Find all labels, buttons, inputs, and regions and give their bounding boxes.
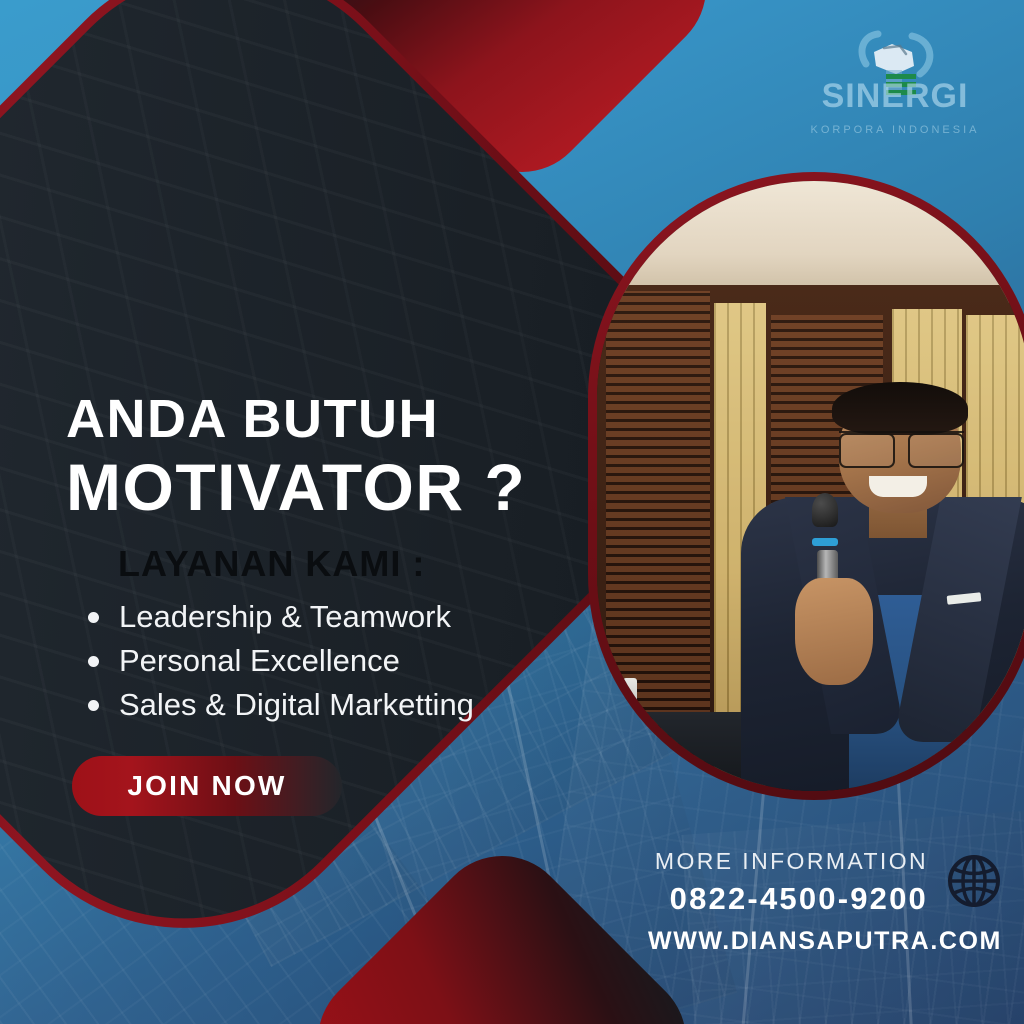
headline-content: ANDA BUTUH MOTIVATOR ? LAYANAN KAMI : Le… bbox=[66, 392, 586, 816]
list-item: Sales & Digital Marketting bbox=[88, 685, 586, 726]
contact-text: MORE INFORMATION 0822-4500-9200 bbox=[655, 848, 928, 917]
service-label: Leadership & Teamwork bbox=[119, 597, 451, 638]
service-label: Personal Excellence bbox=[119, 641, 400, 682]
phone-number[interactable]: 0822-4500-9200 bbox=[655, 881, 928, 917]
smile bbox=[869, 476, 927, 496]
bullet-icon bbox=[88, 700, 99, 711]
promo-poster: ANDA BUTUH MOTIVATOR ? LAYANAN KAMI : Le… bbox=[0, 0, 1024, 1024]
contact-block: MORE INFORMATION 0822-4500-9200 WWW.DIAN… bbox=[648, 848, 1002, 956]
logo-tagline: KORPORA INDONESIA bbox=[800, 124, 990, 136]
bullet-icon bbox=[88, 656, 99, 667]
glasses-icon bbox=[839, 431, 964, 464]
headline-line-2: MOTIVATOR ? bbox=[66, 451, 586, 525]
list-item: Leadership & Teamwork bbox=[88, 597, 586, 638]
join-now-button[interactable]: JOIN NOW bbox=[72, 756, 342, 816]
more-information-label: MORE INFORMATION bbox=[655, 848, 928, 875]
website-url[interactable]: WWW.DIANSAPUTRA.COM bbox=[648, 927, 1002, 956]
service-label: Sales & Digital Marketting bbox=[119, 685, 474, 726]
microphone-head bbox=[812, 493, 838, 527]
speaker-figure bbox=[727, 382, 1024, 791]
company-logo: SINERGI KORPORA INDONESIA bbox=[800, 26, 990, 142]
services-subheading: LAYANAN KAMI : bbox=[66, 543, 586, 585]
speaker-photo bbox=[588, 172, 1024, 800]
services-list: Leadership & Teamwork Personal Excellenc… bbox=[66, 597, 586, 726]
photo-image bbox=[597, 181, 1024, 791]
logo-name: SINERGI bbox=[800, 77, 990, 116]
photo-red-border bbox=[588, 172, 1024, 800]
bullet-icon bbox=[88, 612, 99, 623]
list-item: Personal Excellence bbox=[88, 641, 586, 682]
microphone-band bbox=[812, 538, 838, 546]
contact-row: MORE INFORMATION 0822-4500-9200 bbox=[648, 848, 1002, 917]
water-bottle bbox=[623, 678, 637, 718]
hands bbox=[795, 578, 873, 684]
headline-line-1: ANDA BUTUH bbox=[66, 392, 586, 447]
hair bbox=[832, 382, 967, 435]
globe-icon bbox=[946, 853, 1002, 909]
